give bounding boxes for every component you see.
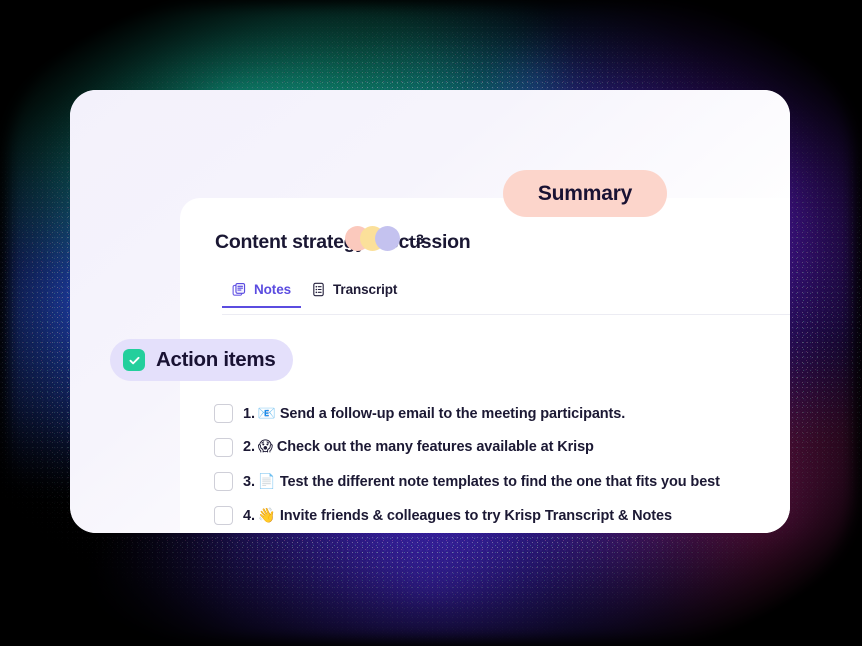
action-items-badge-label: Action items bbox=[156, 348, 275, 372]
action-item-label: Send a follow-up email to the meeting pa… bbox=[280, 406, 625, 422]
list-item[interactable]: 1.📧 Send a follow-up email to the meetin… bbox=[214, 396, 854, 430]
action-items-list: 1.📧 Send a follow-up email to the meetin… bbox=[214, 396, 854, 532]
checkbox-checked-icon bbox=[123, 349, 145, 371]
action-item-number: 2. bbox=[243, 439, 255, 455]
participant-avatar-group[interactable]: +3 bbox=[345, 226, 424, 251]
participant-overflow-count: +3 bbox=[408, 231, 424, 247]
notes-stack-icon bbox=[232, 282, 247, 297]
summary-badge[interactable]: Summary bbox=[503, 170, 667, 217]
action-item-checkbox[interactable] bbox=[214, 404, 233, 423]
action-item-checkbox[interactable] bbox=[214, 472, 233, 491]
tab-transcript-label: Transcript bbox=[333, 282, 397, 297]
action-item-text: 1.📧 Send a follow-up email to the meetin… bbox=[243, 405, 625, 422]
summary-badge-label: Summary bbox=[538, 182, 632, 206]
action-item-checkbox[interactable] bbox=[214, 506, 233, 525]
action-item-emoji: 😱 bbox=[258, 439, 273, 455]
avatar bbox=[375, 226, 400, 251]
action-item-label: Check out the many features available at… bbox=[277, 439, 594, 455]
action-item-label: Test the different note templates to fin… bbox=[280, 474, 720, 490]
action-item-number: 3. bbox=[243, 474, 255, 490]
list-item[interactable]: 4.👋 Invite friends & colleagues to try K… bbox=[214, 498, 854, 532]
action-item-text: 2.😱 Check out the many features availabl… bbox=[243, 439, 594, 455]
action-item-label: Invite friends & colleagues to try Krisp… bbox=[280, 508, 672, 524]
action-item-number: 1. bbox=[243, 406, 255, 422]
action-items-badge: Action items bbox=[110, 339, 293, 381]
page-title: Content strategy discussion bbox=[215, 225, 832, 259]
action-item-checkbox[interactable] bbox=[214, 438, 233, 457]
header-title-row: Content strategy discussion bbox=[215, 225, 832, 259]
list-item[interactable]: 2.😱 Check out the many features availabl… bbox=[214, 430, 854, 464]
action-item-number: 4. bbox=[243, 508, 255, 524]
tab-bar: Notes Transcript bbox=[222, 282, 862, 316]
action-item-emoji: 📧 bbox=[258, 406, 276, 422]
action-item-text: 3.📄 Test the different note templates to… bbox=[243, 473, 720, 490]
action-item-emoji: 👋 bbox=[258, 508, 276, 524]
tab-notes-label: Notes bbox=[254, 282, 291, 297]
transcript-document-icon bbox=[311, 282, 326, 297]
tab-transcript[interactable]: Transcript bbox=[301, 282, 407, 306]
action-item-text: 4.👋 Invite friends & colleagues to try K… bbox=[243, 507, 672, 524]
list-item[interactable]: 3.📄 Test the different note templates to… bbox=[214, 464, 854, 498]
tab-notes[interactable]: Notes bbox=[222, 282, 301, 308]
action-item-emoji: 📄 bbox=[258, 474, 276, 490]
screenshot-stage: Summary Content strategy discussion +3 N… bbox=[0, 0, 862, 646]
